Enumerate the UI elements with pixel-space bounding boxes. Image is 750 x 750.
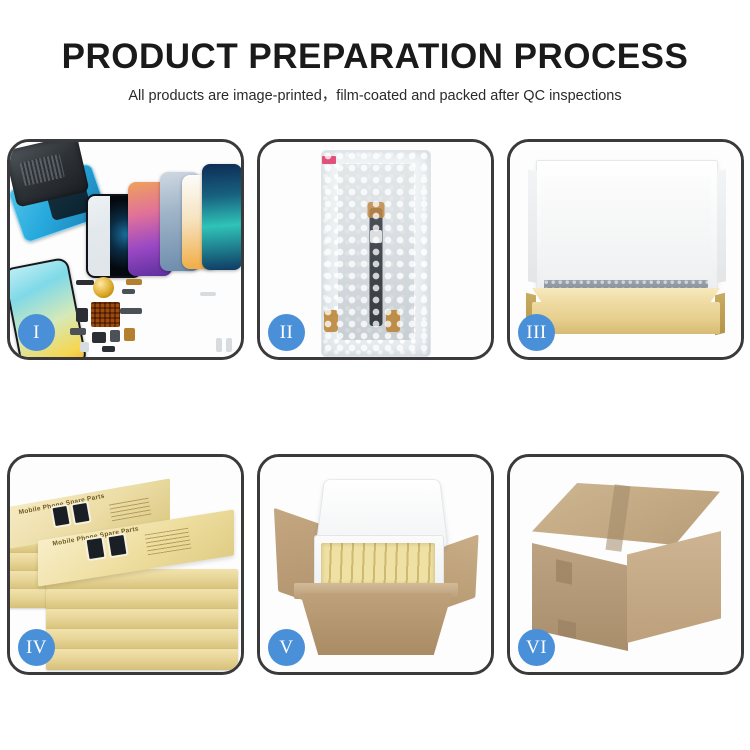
spare-part (70, 328, 86, 335)
stacked-box (46, 629, 238, 650)
spare-part (216, 338, 222, 352)
yellow-boxes-inside (321, 543, 435, 585)
spare-part (200, 292, 216, 296)
connector-pad-left (324, 310, 338, 332)
step-card-4[interactable]: Mobile Phone Spare Parts Mobile Phone Sp… (7, 454, 244, 675)
box-art-screen (109, 535, 127, 556)
kraft-box-tray (532, 302, 720, 334)
box-art-screen (53, 506, 70, 526)
foam-sheet (541, 176, 711, 280)
step-badge-5: V (268, 629, 305, 666)
step-card-5[interactable]: V (257, 454, 494, 675)
speaker-component (93, 277, 114, 298)
spare-part (126, 279, 142, 285)
spare-part (76, 280, 94, 285)
spare-part (76, 308, 88, 322)
spare-part (120, 308, 142, 314)
carton-tape-lower (558, 619, 576, 639)
connector-chip (91, 302, 120, 327)
step-card-6[interactable]: VI (507, 454, 744, 675)
flex-cable (369, 208, 382, 326)
stacked-box (46, 589, 238, 610)
spare-part (226, 338, 232, 352)
process-step-grid: I II (7, 139, 743, 675)
step-badge-4: IV (18, 629, 55, 666)
spare-part (124, 328, 135, 341)
pink-seal-tape (322, 156, 336, 164)
spare-part (92, 332, 106, 343)
step-card-1[interactable]: I (7, 139, 244, 360)
page-title: PRODUCT PREPARATION PROCESS (0, 0, 750, 76)
spare-part (102, 346, 115, 352)
carton-tape-upper (556, 559, 572, 584)
driver-ic (370, 230, 382, 243)
phone-display-teal (202, 164, 241, 270)
box-art-screen (87, 538, 105, 559)
spare-part (122, 289, 135, 294)
spare-part (80, 342, 89, 352)
stacked-box (46, 609, 238, 630)
box-art-screen (73, 503, 90, 523)
product-preparation-infographic: PRODUCT PREPARATION PROCESS All products… (0, 0, 750, 750)
step-card-3[interactable]: III (507, 139, 744, 360)
step-badge-3: III (518, 314, 555, 351)
carton-side-face (627, 531, 721, 643)
step-badge-2: II (268, 314, 305, 351)
connector-pad-right (386, 310, 400, 332)
stacked-box (46, 649, 238, 670)
carton-body (300, 593, 452, 655)
page-subtitle: All products are image-printed，film-coat… (0, 76, 750, 105)
step-card-2[interactable]: II (257, 139, 494, 360)
spare-part (110, 330, 120, 342)
cable-connector (367, 202, 384, 218)
step-badge-6: VI (518, 629, 555, 666)
step-badge-1: I (18, 314, 55, 351)
header: PRODUCT PREPARATION PROCESS All products… (0, 0, 750, 105)
